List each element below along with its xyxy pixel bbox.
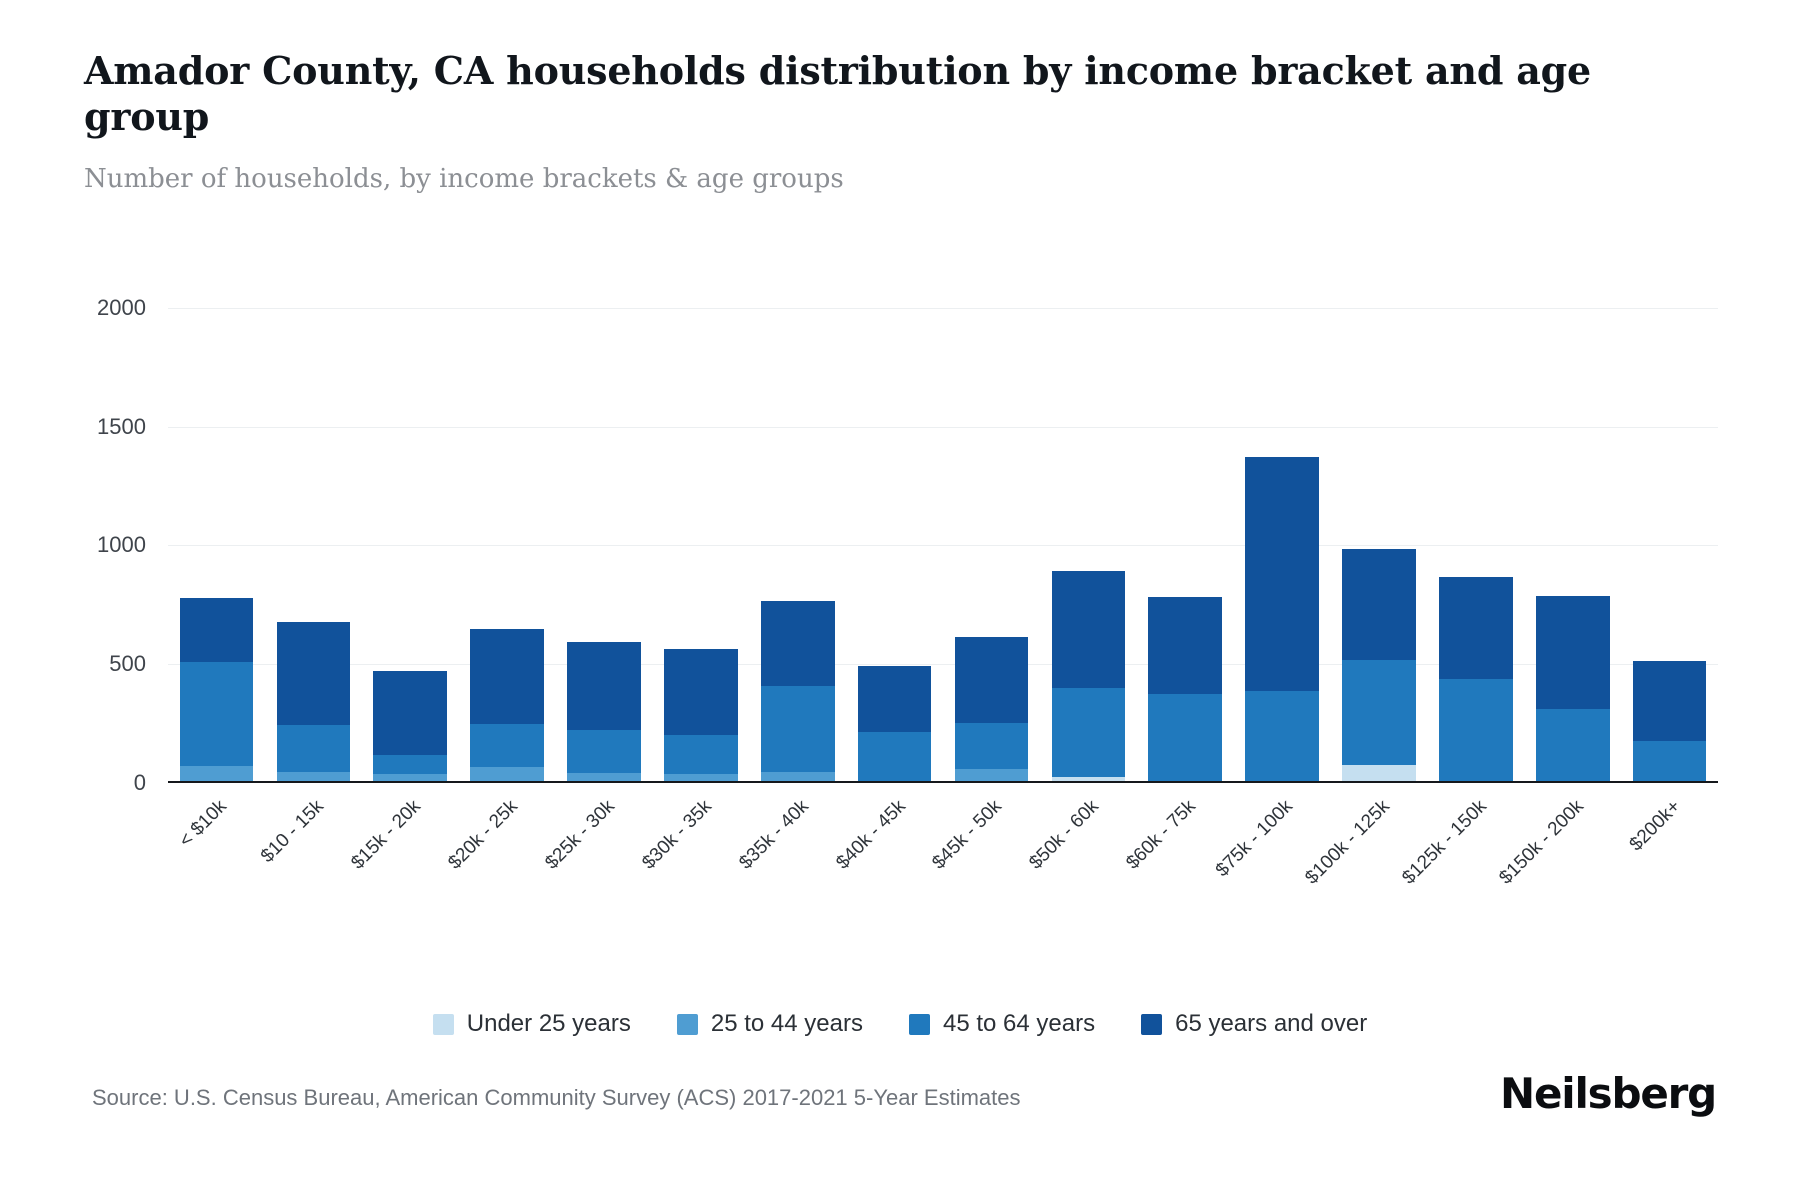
bar-segment[interactable] <box>1439 577 1513 680</box>
bar-segment[interactable] <box>277 622 351 725</box>
stacked-bar[interactable] <box>1245 457 1319 781</box>
y-axis-tick-label: 1000 <box>97 532 146 558</box>
bar-segment[interactable] <box>1342 549 1416 660</box>
bar-segment[interactable] <box>1052 777 1126 781</box>
bar-group[interactable] <box>1040 300 1137 781</box>
bar-segment[interactable] <box>180 598 254 663</box>
gridline <box>168 545 1718 546</box>
x-axis-line <box>168 781 1718 783</box>
bar-segment[interactable] <box>1245 691 1319 781</box>
y-axis-tick-label: 1500 <box>97 414 146 440</box>
bar-group[interactable] <box>1621 300 1718 781</box>
bar-segment[interactable] <box>1342 660 1416 765</box>
legend-label: 45 to 64 years <box>943 1010 1095 1038</box>
bar-segment[interactable] <box>858 666 932 733</box>
stacked-bar[interactable] <box>567 642 641 781</box>
legend-swatch-icon <box>433 1014 454 1035</box>
bar-segment[interactable] <box>1052 688 1126 777</box>
bar-segment[interactable] <box>277 772 351 781</box>
legend-item[interactable]: Under 25 years <box>433 1010 631 1038</box>
bar-group[interactable] <box>1427 300 1524 781</box>
x-axis-labels: < $10k$10 - 15k$15k - 20k$20k - 25k$25k … <box>168 790 1718 900</box>
y-axis-tick-label: 2000 <box>97 295 146 321</box>
bar-segment[interactable] <box>470 767 544 781</box>
bar-segment[interactable] <box>761 686 835 772</box>
stacked-bar[interactable] <box>1148 597 1222 781</box>
bar-group[interactable] <box>265 300 362 781</box>
bar-segment[interactable] <box>277 725 351 772</box>
x-axis-label-cell: < $10k <box>168 790 265 900</box>
bar-segment[interactable] <box>180 766 254 781</box>
stacked-bar[interactable] <box>858 666 932 781</box>
chart-header: Amador County, CA households distributio… <box>84 48 1704 197</box>
gridline <box>168 427 1718 428</box>
bar-segment[interactable] <box>567 642 641 731</box>
bar-segment[interactable] <box>567 730 641 773</box>
x-axis-tick-label: $200k+ <box>1625 796 1685 856</box>
bar-group[interactable] <box>556 300 653 781</box>
legend-item[interactable]: 25 to 44 years <box>677 1010 863 1038</box>
bar-group[interactable] <box>652 300 749 781</box>
bar-segment[interactable] <box>858 732 932 781</box>
chart-footer: Source: U.S. Census Bureau, American Com… <box>0 1085 1800 1145</box>
bar-segment[interactable] <box>373 671 447 756</box>
bar-series-container <box>168 300 1718 781</box>
stacked-bar[interactable] <box>277 622 351 781</box>
bar-segment[interactable] <box>955 723 1029 769</box>
x-axis-tick-label: $10 - 15k <box>257 796 329 868</box>
x-axis-label-cell: $30k - 35k <box>652 790 749 900</box>
y-axis-tick-label: 0 <box>134 770 146 796</box>
stacked-bar[interactable] <box>761 601 835 781</box>
x-axis-label-cell: $60k - 75k <box>1137 790 1234 900</box>
bar-segment[interactable] <box>1633 741 1707 781</box>
stacked-bar[interactable] <box>1633 661 1707 781</box>
bar-segment[interactable] <box>373 755 447 773</box>
page-title: Amador County, CA households distributio… <box>84 48 1644 141</box>
stacked-bar[interactable] <box>470 629 544 781</box>
bar-segment[interactable] <box>761 772 835 781</box>
bar-segment[interactable] <box>1439 679 1513 781</box>
gridline <box>168 664 1718 665</box>
bar-segment[interactable] <box>664 649 738 735</box>
bar-group[interactable] <box>749 300 846 781</box>
bar-segment[interactable] <box>1148 597 1222 694</box>
x-axis-label-cell: $45k - 50k <box>943 790 1040 900</box>
gridline <box>168 308 1718 309</box>
x-axis-tick-label: < $10k <box>176 796 232 852</box>
bar-segment[interactable] <box>1536 596 1610 709</box>
bar-segment[interactable] <box>664 735 738 773</box>
bar-group[interactable] <box>362 300 459 781</box>
stacked-bar[interactable] <box>955 637 1029 781</box>
legend-item[interactable]: 45 to 64 years <box>909 1010 1095 1038</box>
legend-label: 25 to 44 years <box>711 1010 863 1038</box>
bar-group[interactable] <box>1524 300 1621 781</box>
x-axis-label-cell: $35k - 40k <box>749 790 846 900</box>
legend-swatch-icon <box>677 1014 698 1035</box>
bar-segment[interactable] <box>1052 571 1126 688</box>
x-axis-label-cell: $200k+ <box>1621 790 1718 900</box>
stacked-bar[interactable] <box>373 671 447 781</box>
y-axis-tick-label: 500 <box>109 651 146 677</box>
chart-legend: Under 25 years25 to 44 years45 to 64 yea… <box>0 1010 1800 1038</box>
legend-label: 65 years and over <box>1175 1010 1367 1038</box>
legend-label: Under 25 years <box>467 1010 631 1038</box>
plot-area: 0500100015002000 <box>168 300 1718 783</box>
bar-group[interactable] <box>943 300 1040 781</box>
bar-segment[interactable] <box>180 662 254 766</box>
chart-subtitle: Number of households, by income brackets… <box>84 163 1704 197</box>
bar-group[interactable] <box>168 300 265 781</box>
x-axis-label-cell: $150k - 200k <box>1524 790 1621 900</box>
bar-segment[interactable] <box>1536 709 1610 781</box>
chart-page: Amador County, CA households distributio… <box>0 0 1800 1200</box>
stacked-bar[interactable] <box>1342 549 1416 781</box>
stacked-bar[interactable] <box>664 649 738 781</box>
bar-group[interactable] <box>1137 300 1234 781</box>
x-axis-label-cell: $15k - 20k <box>362 790 459 900</box>
stacked-bar[interactable] <box>1536 596 1610 781</box>
source-note: Source: U.S. Census Bureau, American Com… <box>92 1085 1021 1111</box>
stacked-bar[interactable] <box>1052 571 1126 781</box>
bar-segment[interactable] <box>567 773 641 781</box>
bar-segment[interactable] <box>470 629 544 724</box>
x-axis-label-cell: $20k - 25k <box>459 790 556 900</box>
bar-segment[interactable] <box>373 774 447 781</box>
x-axis-label-cell: $50k - 60k <box>1040 790 1137 900</box>
bar-segment[interactable] <box>955 769 1029 781</box>
legend-swatch-icon <box>909 1014 930 1035</box>
bar-segment[interactable] <box>1148 694 1222 781</box>
brand-logo: Neilsberg <box>1500 1069 1716 1118</box>
stacked-bar[interactable] <box>1439 577 1513 781</box>
stacked-bar[interactable] <box>180 598 254 781</box>
bar-group[interactable] <box>1234 300 1331 781</box>
x-axis-label-cell: $40k - 45k <box>846 790 943 900</box>
x-axis-label-cell: $10 - 15k <box>265 790 362 900</box>
bar-group[interactable] <box>459 300 556 781</box>
bar-segment[interactable] <box>761 601 835 686</box>
bar-segment[interactable] <box>955 637 1029 723</box>
bar-segment[interactable] <box>1633 661 1707 741</box>
bar-segment[interactable] <box>1245 457 1319 691</box>
bar-segment[interactable] <box>1342 765 1416 781</box>
x-axis-label-cell: $25k - 30k <box>556 790 653 900</box>
bar-group[interactable] <box>1331 300 1428 781</box>
bar-segment[interactable] <box>664 774 738 781</box>
bar-segment[interactable] <box>470 724 544 767</box>
bar-group[interactable] <box>846 300 943 781</box>
legend-swatch-icon <box>1141 1014 1162 1035</box>
legend-item[interactable]: 65 years and over <box>1141 1010 1367 1038</box>
